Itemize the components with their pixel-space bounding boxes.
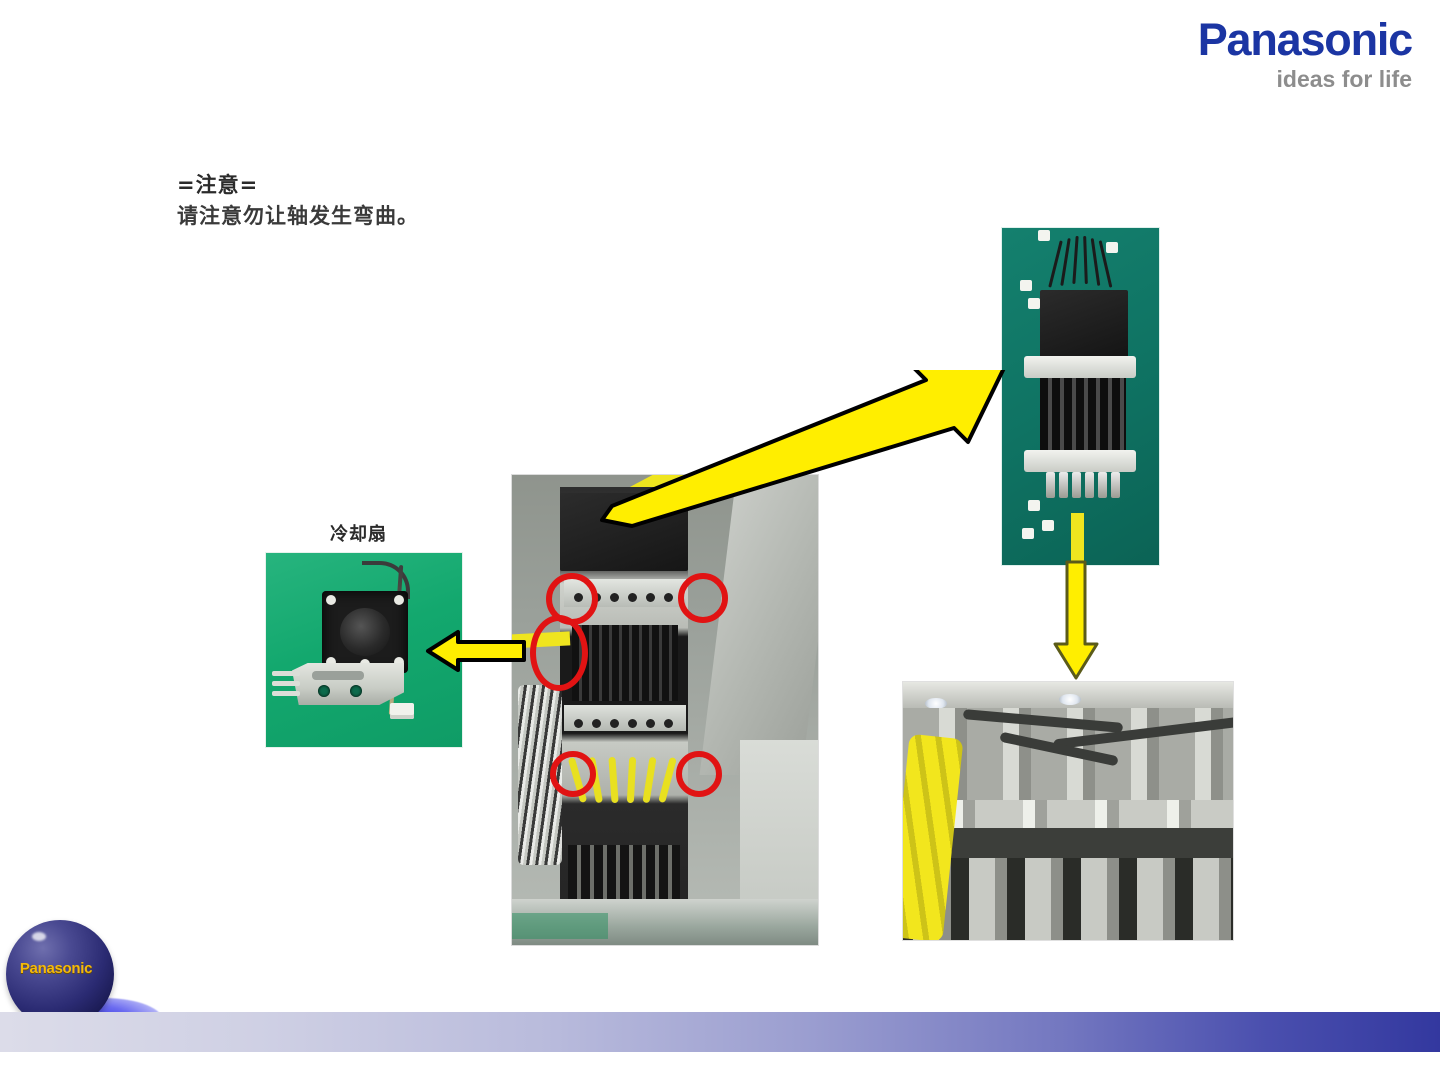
arrow-machine-to-fan (424, 628, 528, 674)
fan-connector (390, 703, 414, 719)
fan-screw (394, 595, 404, 605)
bracket-hole (318, 685, 330, 697)
highlight-circle-screw-lower-left (550, 751, 596, 797)
nozzle-shafts-photo-content (903, 682, 1233, 940)
fan-housing (322, 591, 408, 673)
harness-clip (1042, 520, 1054, 531)
arrow-module-to-nozzle (1050, 560, 1102, 682)
driver-module-photo-content (1002, 228, 1159, 565)
harness-clip (1020, 280, 1032, 291)
sphere-logo-text: Panasonic (2, 960, 110, 977)
harness-clip (1028, 500, 1040, 511)
lower-connector-rail (568, 845, 680, 907)
mounting-plate-bottom (1024, 450, 1136, 472)
module-heat-sink (1040, 378, 1126, 450)
caution-title: =注意= (177, 170, 697, 200)
highlight-circle-screw-lower-right (676, 751, 722, 797)
machine-panel-photo (512, 475, 818, 945)
highlight-circle-cooling-fan (530, 615, 588, 691)
fan-mount-prongs (272, 669, 308, 697)
caution-body: 请注意勿让轴发生弯曲。 (177, 200, 697, 232)
cooling-fan-label: 冷却扇 (330, 520, 387, 546)
panasonic-wordmark: Panasonic (1176, 14, 1412, 66)
footer-gradient-bar (0, 1012, 1440, 1052)
yellow-cable (1071, 513, 1084, 565)
panasonic-logo: Panasonic ideas for life (1176, 14, 1412, 96)
floor-mat (512, 913, 608, 939)
fan-screw (326, 595, 336, 605)
slide-canvas: Panasonic ideas for life =注意= 请注意勿让轴发生弯曲… (0, 0, 1440, 1080)
bracket-slot (312, 671, 364, 680)
harness-clip (1106, 242, 1118, 253)
harness-clip (1022, 528, 1034, 539)
bracket-hole (350, 685, 362, 697)
arrow-machine-to-module (596, 370, 1008, 530)
machine-panel-photo-content (512, 475, 818, 945)
nozzle-lower-shafts (903, 858, 1233, 940)
harness-clip (1038, 230, 1050, 241)
mounting-plate-top (1024, 356, 1136, 378)
module-pins (1046, 472, 1120, 500)
caution-note: =注意= 请注意勿让轴发生弯曲。 (177, 170, 697, 232)
fan-bracket (292, 663, 404, 705)
sphere-gloss (32, 932, 46, 941)
nozzle-shafts-photo (903, 682, 1233, 940)
module-body (1040, 290, 1128, 360)
fan-hub (340, 608, 390, 656)
harness-clip (1028, 298, 1040, 309)
highlight-circle-screw-upper-right (678, 573, 728, 623)
driver-module-photo (1002, 228, 1159, 565)
terminal-block-lower (564, 705, 686, 731)
panasonic-tagline: ideas for life (1176, 66, 1412, 92)
heat-sink (572, 625, 678, 701)
highlight-reflection (1059, 694, 1081, 705)
